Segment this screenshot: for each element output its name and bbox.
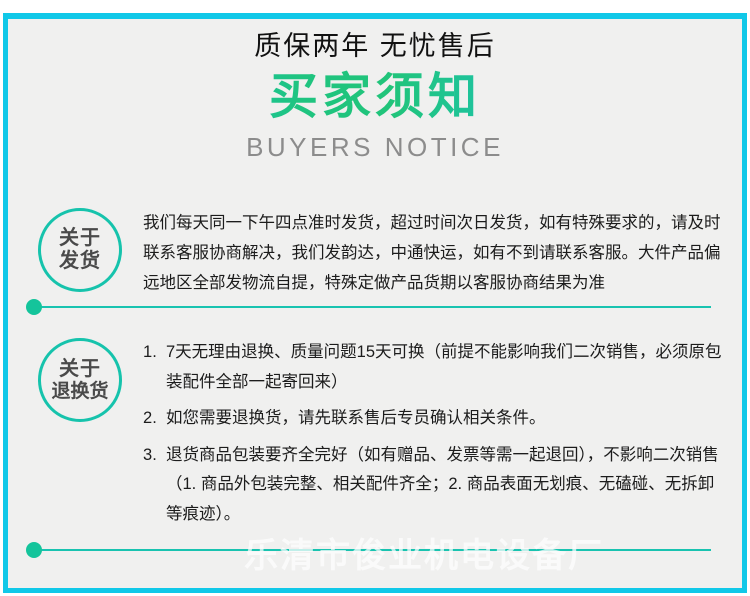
section-returns: 关于 退换货 7天无理由退换、质量问题15天可换（前提不能影响我们二次销售，必须…	[38, 338, 726, 529]
separator-dot-icon	[26, 299, 42, 315]
page-title: 买家须知	[0, 70, 750, 125]
badge-about-shipping: 关于 发货	[38, 208, 122, 292]
shipping-paragraph: 我们每天同一下午四点准时发货，超过时间次日发货，如有特殊要求的，请及时联系客服协…	[143, 208, 721, 298]
badge-label-line1: 关于	[59, 358, 101, 381]
list-item: 7天无理由退换、质量问题15天可换（前提不能影响我们二次销售，必须原包装配件全部…	[143, 338, 726, 397]
badge-label-line1: 关于	[59, 227, 101, 250]
shipping-policy-text: 我们每天同一下午四点准时发货，超过时间次日发货，如有特殊要求的，请及时联系客服协…	[143, 208, 721, 298]
list-item: 退货商品包装要齐全完好（如有赠品、发票等需一起退回），不影响二次销售（1. 商品…	[143, 441, 726, 530]
buyers-notice-banner: 质保两年 无忧售后 买家须知 BUYERS NOTICE 关于 发货 我们每天同…	[0, 0, 750, 596]
badge-about-returns: 关于 退换货	[38, 338, 122, 422]
section-separator-1	[35, 306, 711, 308]
badge-label-line2: 退换货	[51, 381, 108, 403]
page-subtitle: BUYERS NOTICE	[0, 132, 750, 163]
separator-dot-icon	[26, 542, 42, 558]
list-item: 如您需要退换货，请先联系售后专员确认相关条件。	[143, 404, 726, 434]
section-shipping: 关于 发货 我们每天同一下午四点准时发货，超过时间次日发货，如有特殊要求的，请及…	[38, 208, 721, 298]
header-tagline: 质保两年 无忧售后	[0, 30, 750, 62]
badge-label-line2: 发货	[59, 250, 101, 273]
section-separator-2	[35, 549, 711, 551]
returns-policy-list: 7天无理由退换、质量问题15天可换（前提不能影响我们二次销售，必须原包装配件全部…	[143, 338, 726, 529]
header-block: 质保两年 无忧售后 买家须知 BUYERS NOTICE	[0, 30, 750, 163]
